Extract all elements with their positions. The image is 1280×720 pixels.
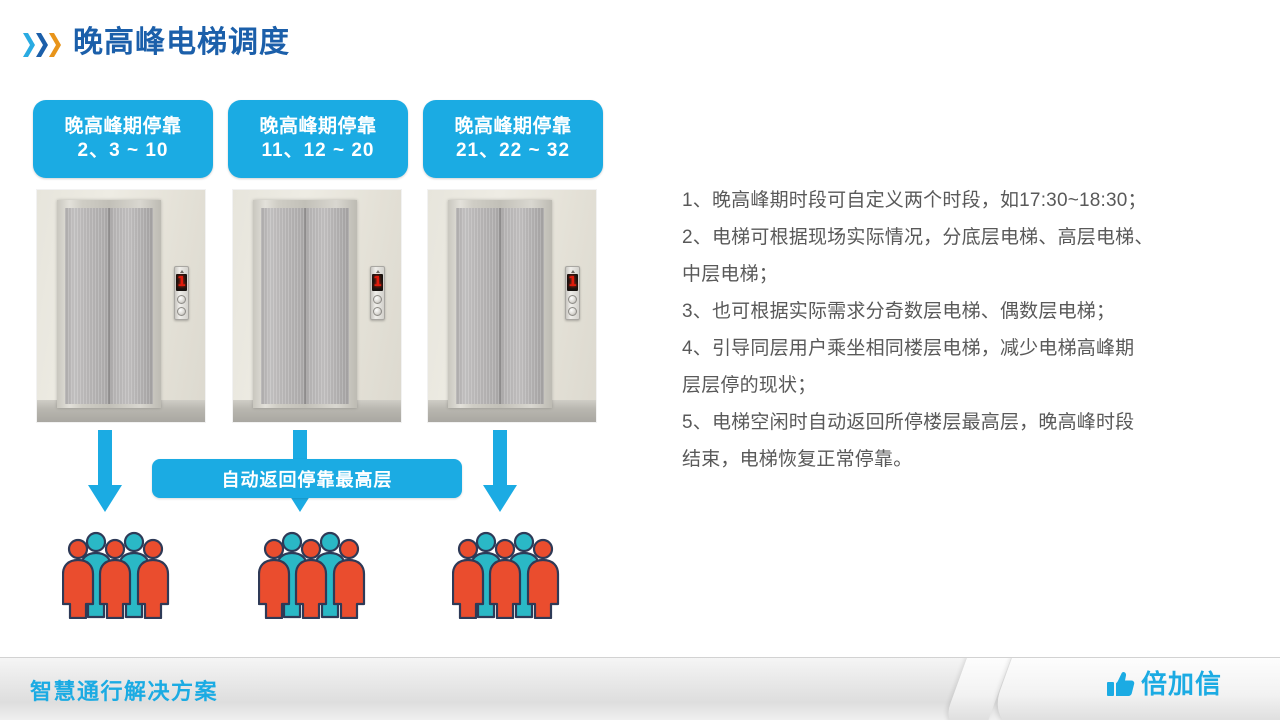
elevator-door-frame xyxy=(253,200,357,408)
floor-display: 1 xyxy=(567,274,578,291)
badge-label-line2: 21、22 ~ 32 xyxy=(456,139,570,163)
elevator-photo-3: 1 xyxy=(428,190,596,422)
down-arrow-icon-1 xyxy=(88,430,122,512)
elevator-door-frame xyxy=(57,200,161,408)
note-line: 层层停的现状； xyxy=(682,367,1212,404)
page-title: 晚高峰电梯调度 xyxy=(73,28,290,58)
elevator-doors xyxy=(261,208,349,404)
floor-badge-1: 晚高峰期停靠 2、3 ~ 10 xyxy=(33,100,213,178)
chevron-1-icon xyxy=(22,32,35,58)
note-line: 中层电梯； xyxy=(682,256,1212,293)
door-texture xyxy=(456,208,544,404)
people-group-2 xyxy=(258,527,378,619)
call-button-down xyxy=(568,307,577,316)
people-group-1 xyxy=(62,527,182,619)
elevator-door-frame xyxy=(448,200,552,408)
people-group-3 xyxy=(452,527,572,619)
note-line: 3、也可根据实际需求分奇数层电梯、偶数层电梯； xyxy=(682,293,1212,330)
brand-name: 倍加信 xyxy=(1141,671,1222,697)
note-line: 结束，电梯恢复正常停靠。 xyxy=(682,441,1212,478)
elevator-call-panel: 1 xyxy=(174,266,189,320)
auto-return-label: 自动返回停靠最高层 xyxy=(152,459,462,498)
badge-label-line1: 晚高峰期停靠 xyxy=(259,115,376,139)
note-line: 5、电梯空闲时自动返回所停楼层最高层，晚高峰时段 xyxy=(682,404,1212,441)
brand-logo: 倍加信 xyxy=(1107,670,1222,698)
call-button-up xyxy=(177,295,186,304)
chevron-2-icon xyxy=(35,32,48,58)
elevator-photo-2: 1 xyxy=(233,190,401,422)
badge-label-line2: 11、12 ~ 20 xyxy=(261,139,374,163)
up-arrow-icon xyxy=(376,270,380,273)
door-texture xyxy=(261,208,349,404)
elevator-call-panel: 1 xyxy=(370,266,385,320)
up-arrow-icon xyxy=(571,270,575,273)
down-arrow-icon-3 xyxy=(483,430,517,512)
elevator-call-panel: 1 xyxy=(565,266,580,320)
call-button-up xyxy=(568,295,577,304)
slide-canvas: 晚高峰电梯调度 晚高峰期停靠 2、3 ~ 10 晚高峰期停靠 11、12 ~ 2… xyxy=(0,0,1280,720)
chevron-3-icon xyxy=(48,32,61,58)
floor-display: 1 xyxy=(176,274,187,291)
badge-label-line2: 2、3 ~ 10 xyxy=(78,139,169,163)
floor-display: 1 xyxy=(372,274,383,291)
note-line: 1、晚高峰期时段可自定义两个时段，如17:30~18:30； xyxy=(682,182,1212,219)
floor-badge-3: 晚高峰期停靠 21、22 ~ 32 xyxy=(423,100,603,178)
footer-bar: 智慧通行解决方案 倍加信 xyxy=(0,657,1280,720)
triple-chevron-right-icon xyxy=(22,32,61,58)
up-arrow-icon xyxy=(180,270,184,273)
elevator-photo-1: 1 xyxy=(37,190,205,422)
badge-label-line1: 晚高峰期停靠 xyxy=(454,115,571,139)
call-button-down xyxy=(177,307,186,316)
footer-solution-text: 智慧通行解决方案 xyxy=(30,674,218,706)
page-header: 晚高峰电梯调度 xyxy=(22,28,290,58)
elevator-doors xyxy=(456,208,544,404)
door-texture xyxy=(65,208,153,404)
call-button-up xyxy=(373,295,382,304)
call-button-down xyxy=(373,307,382,316)
badge-label-line1: 晚高峰期停靠 xyxy=(64,115,181,139)
note-line: 2、电梯可根据现场实际情况，分底层电梯、高层电梯、 xyxy=(682,219,1212,256)
elevator-doors xyxy=(65,208,153,404)
notes-panel: 1、晚高峰期时段可自定义两个时段，如17:30~18:30； 2、电梯可根据现场… xyxy=(682,182,1212,478)
thumbs-up-icon xyxy=(1107,670,1137,698)
floor-badge-2: 晚高峰期停靠 11、12 ~ 20 xyxy=(228,100,408,178)
note-line: 4、引导同层用户乘坐相同楼层电梯，减少电梯高峰期 xyxy=(682,330,1212,367)
